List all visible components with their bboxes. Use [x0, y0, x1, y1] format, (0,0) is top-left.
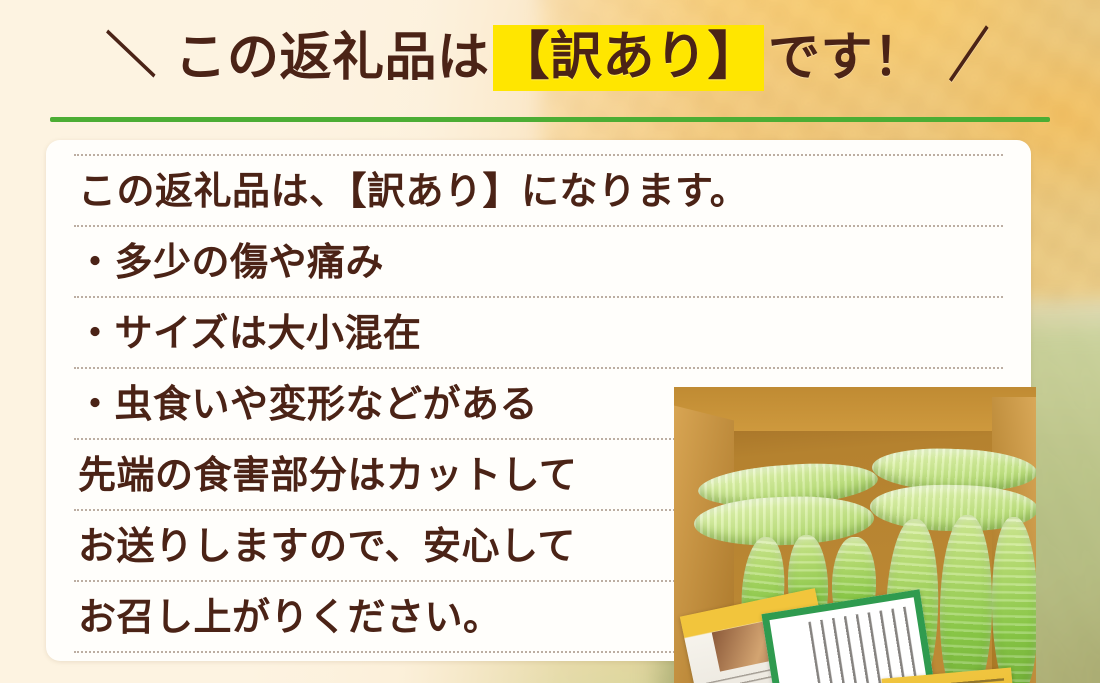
corn-ear: [990, 517, 1036, 683]
text-row-label: ・虫食いや変形などがある: [74, 385, 538, 423]
text-row-label: お召し上がりください。: [74, 598, 502, 636]
headline-text-after: です！: [768, 32, 926, 84]
headline-highlight: 【訳あり】: [493, 25, 764, 91]
text-row: この返礼品は、【訳あり】になります。: [74, 156, 1003, 225]
promo-banner: ＼ この返礼品は 【訳あり】 です！ ／ この返礼品は、【訳あり】になります。 …: [0, 0, 1100, 683]
product-photo-image: [674, 387, 1036, 683]
green-divider: [50, 117, 1050, 122]
headline: ＼ この返礼品は 【訳あり】 です！ ／: [88, 25, 1012, 91]
content-card: この返礼品は、【訳あり】になります。 ・多少の傷や痛み ・サイズは大小混在 ・虫…: [46, 140, 1031, 661]
text-row: ・多少の傷や痛み: [74, 227, 1003, 296]
headline-text-before: この返礼品は: [174, 32, 489, 84]
text-row-label: ・多少の傷や痛み: [74, 243, 384, 281]
text-row-label: 先端の食害部分はカットして: [74, 456, 577, 494]
text-row: ・サイズは大小混在: [74, 298, 1003, 367]
product-photo: [674, 387, 1036, 683]
text-row-label: お送りしますので、安心して: [74, 527, 576, 565]
text-row-label: ・サイズは大小混在: [74, 314, 421, 352]
banner-header: ＼ この返礼品は 【訳あり】 です！ ／: [0, 0, 1100, 116]
slash-left-icon: ＼: [105, 27, 157, 86]
text-row-label: この返礼品は、【訳あり】になります。: [74, 172, 748, 210]
slash-right-icon: ／: [943, 27, 995, 86]
